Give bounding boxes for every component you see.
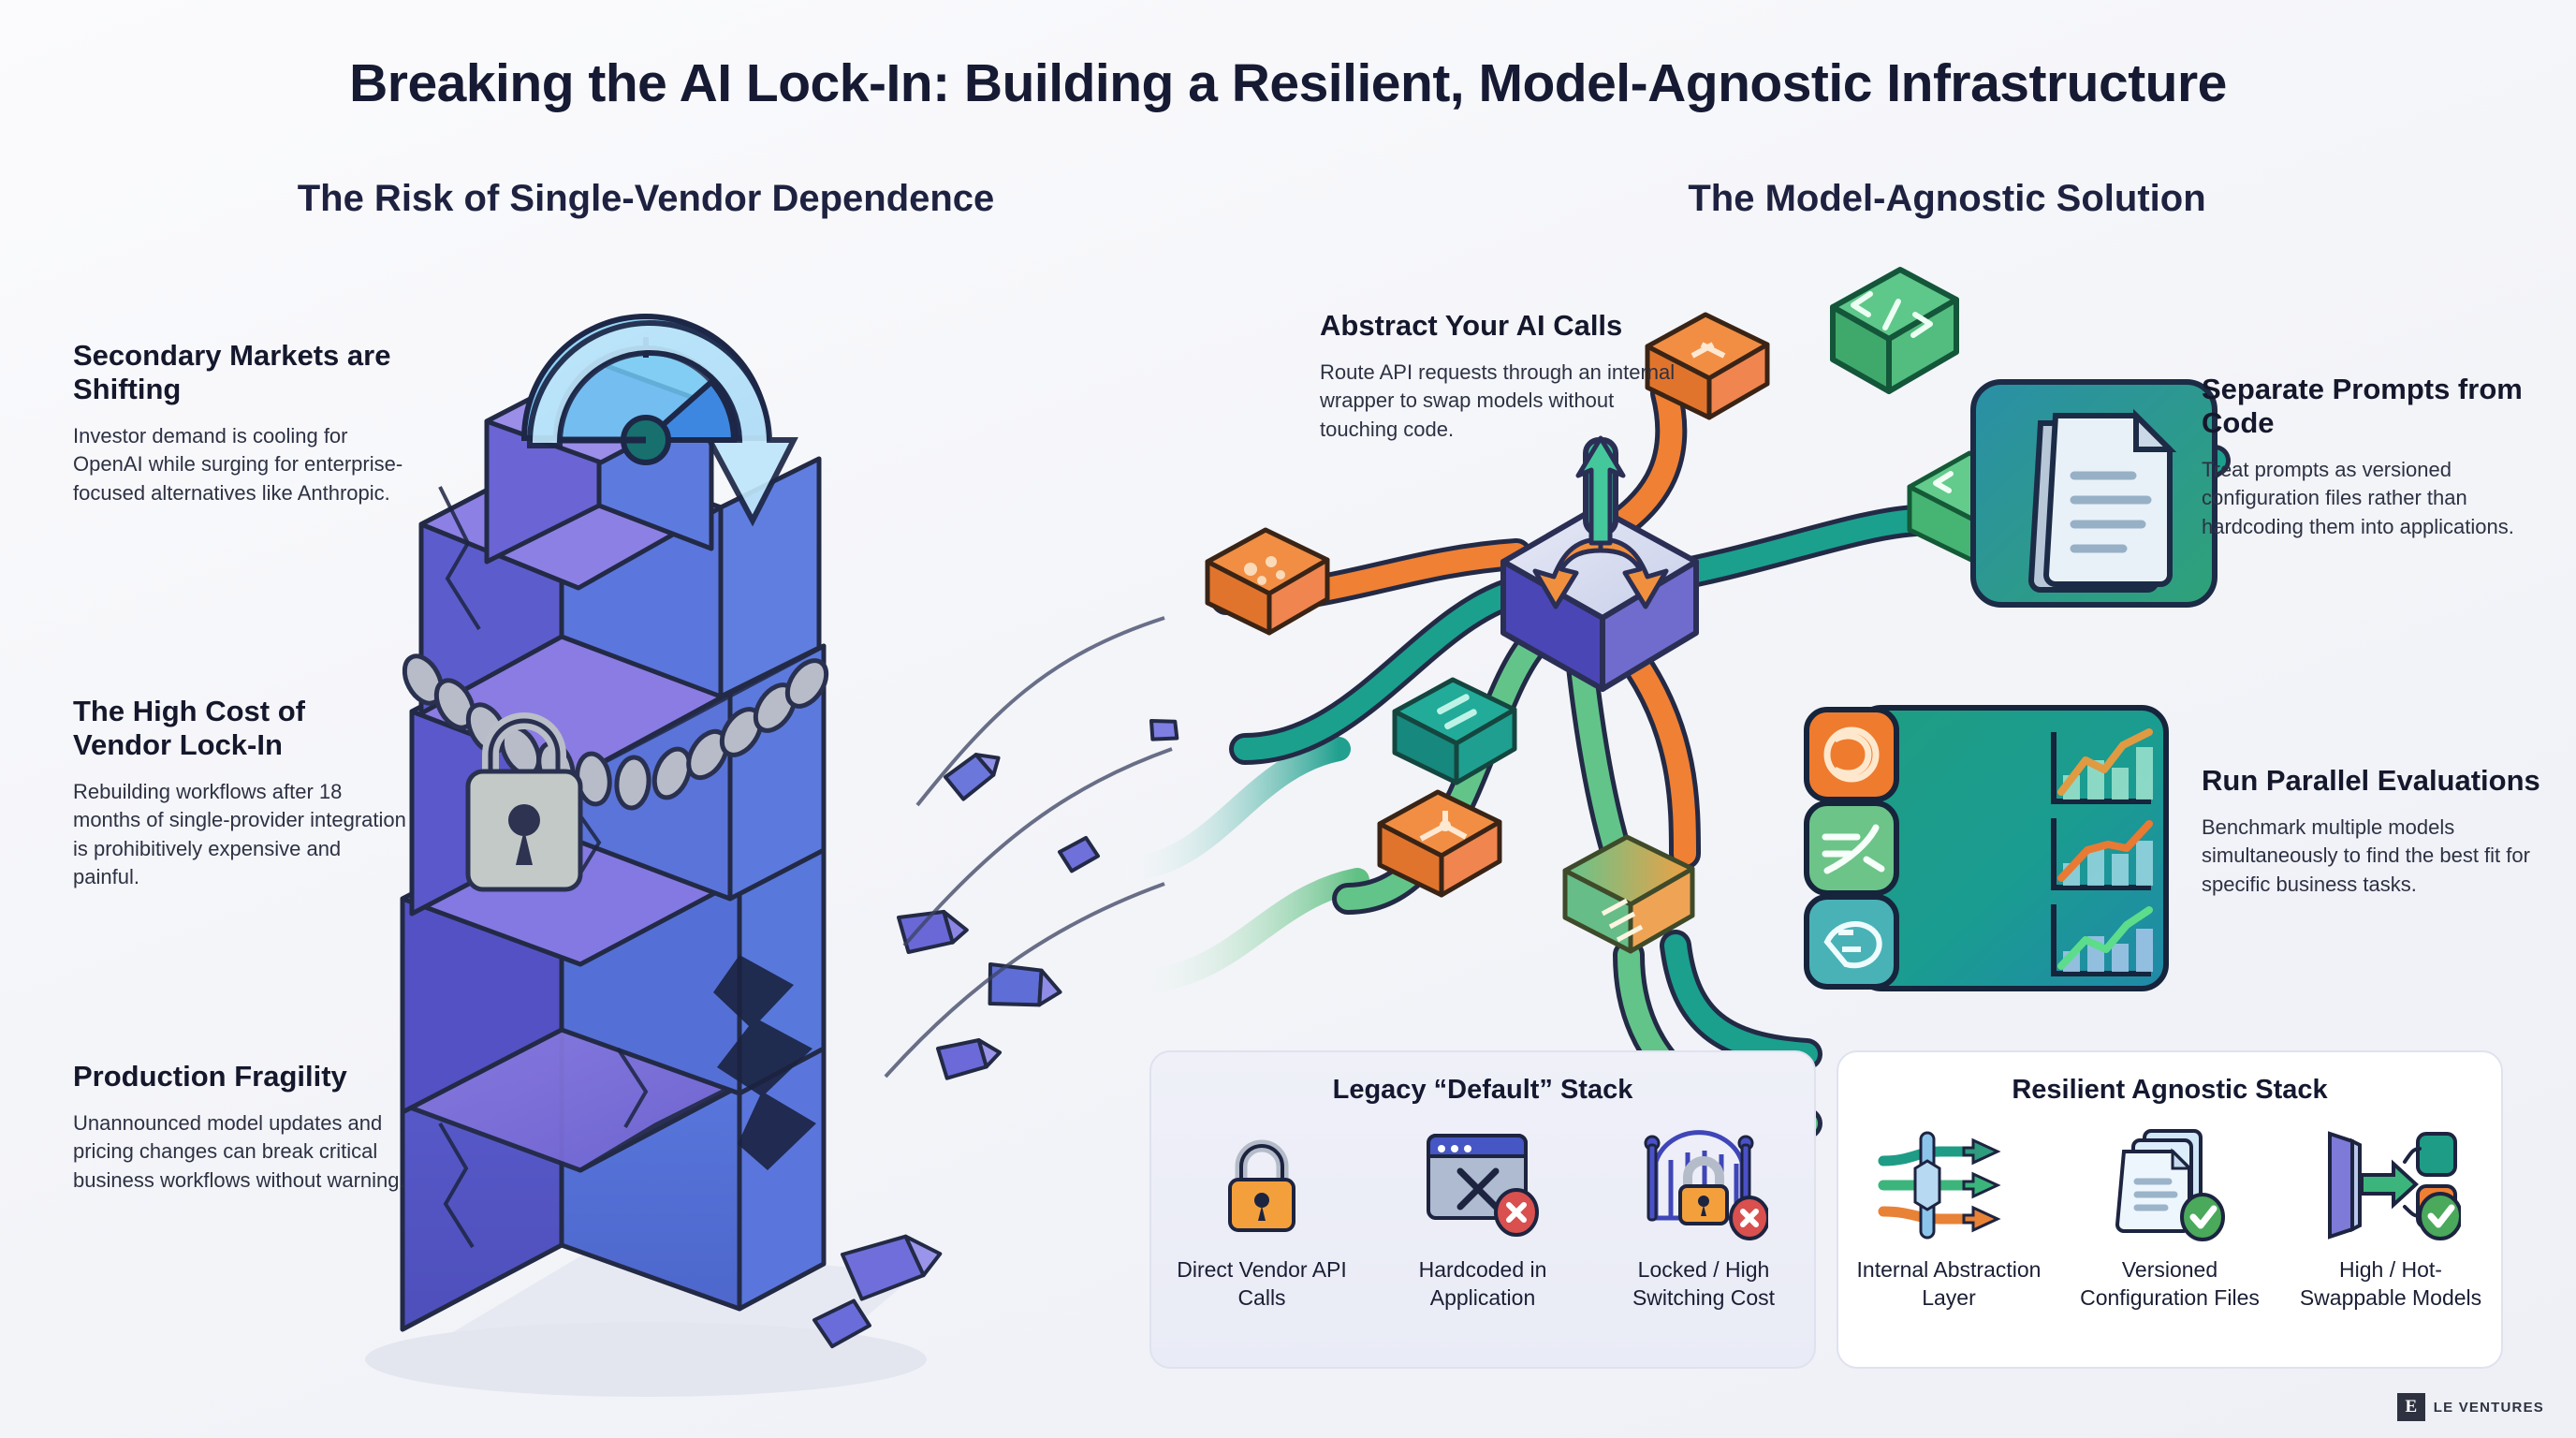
legacy-panel-items: Direct Vendor API Calls Hardcoded in <box>1151 1125 1814 1359</box>
solution-block-title: Run Parallel Evaluations <box>2202 764 2548 798</box>
risk-block-body: Investor demand is cooling for OpenAI wh… <box>73 422 410 507</box>
solution-block-parallel-evaluations: Run Parallel Evaluations Benchmark multi… <box>2202 764 2548 899</box>
solution-block-abstract-calls: Abstract Your AI Calls Route API request… <box>1320 309 1694 444</box>
legacy-item-direct-vendor: Direct Vendor API Calls <box>1164 1125 1360 1313</box>
resilient-stack-panel: Resilient Agnostic Stack <box>1837 1050 2503 1369</box>
solution-block-title: Abstract Your AI Calls <box>1320 309 1694 343</box>
risk-block-title: The High Cost of Vendor Lock-In <box>73 695 410 762</box>
legacy-stack-panel: Legacy “Default” Stack Direct Vendor API… <box>1149 1050 1816 1369</box>
padlock-icon <box>1217 1125 1307 1245</box>
brand-mark-icon: E <box>2397 1393 2425 1421</box>
legacy-panel-title: Legacy “Default” Stack <box>1151 1075 1814 1106</box>
legacy-item-label: Direct Vendor API Calls <box>1164 1256 1360 1313</box>
resilient-item-versioned-config: Versioned Configuration Files <box>2071 1125 2268 1313</box>
resilient-item-label: High / Hot-Swappable Models <box>2292 1256 2489 1313</box>
resilient-item-hot-swappable: High / Hot-Swappable Models <box>2292 1125 2489 1313</box>
risk-block-body: Rebuilding workflows after 18 months of … <box>73 778 410 891</box>
risk-block-title: Production Fragility <box>73 1060 410 1093</box>
locked-gate-icon <box>1639 1125 1768 1245</box>
browser-window-x-icon <box>1423 1125 1543 1245</box>
resilient-panel-title: Resilient Agnostic Stack <box>1838 1075 2501 1106</box>
legacy-item-label: Hardcoded in Application <box>1384 1256 1581 1313</box>
brand-name: LE VENTURES <box>2434 1400 2544 1416</box>
solution-block-body: Treat prompts as versioned configuration… <box>2202 456 2548 541</box>
solution-block-body: Route API requests through an internal w… <box>1320 359 1694 444</box>
left-column-header: The Risk of Single-Vendor Dependence <box>103 178 1189 220</box>
legacy-item-hardcoded: Hardcoded in Application <box>1384 1125 1581 1313</box>
routing-hub-icon <box>1874 1125 2024 1245</box>
documents-icon <box>2111 1125 2229 1245</box>
solution-block-title: Separate Prompts from Code <box>2202 373 2548 440</box>
resilient-panel-items: Internal Abstraction Layer Versioned Con… <box>1838 1125 2501 1359</box>
page-title: Breaking the AI Lock-In: Building a Resi… <box>0 52 2576 114</box>
risk-block-title: Secondary Markets are Shifting <box>73 339 410 406</box>
swap-models-icon <box>2320 1125 2461 1245</box>
legacy-item-locked-switching: Locked / High Switching Cost <box>1605 1125 1802 1313</box>
risk-block-body: Unannounced model updates and pricing ch… <box>73 1109 410 1195</box>
footer-logo: E LE VENTURES <box>2397 1393 2544 1421</box>
right-column-header: The Model-Agnostic Solution <box>1404 178 2490 220</box>
resilient-item-label: Versioned Configuration Files <box>2071 1256 2268 1313</box>
legacy-item-label: Locked / High Switching Cost <box>1605 1256 1802 1313</box>
risk-block-secondary-markets: Secondary Markets are Shifting Investor … <box>73 339 410 507</box>
resilient-item-abstraction-layer: Internal Abstraction Layer <box>1851 1125 2047 1313</box>
solution-block-body: Benchmark multiple models simultaneously… <box>2202 814 2548 899</box>
risk-block-production-fragility: Production Fragility Unannounced model u… <box>73 1060 410 1195</box>
resilient-item-label: Internal Abstraction Layer <box>1851 1256 2047 1313</box>
risk-block-high-cost: The High Cost of Vendor Lock-In Rebuildi… <box>73 695 410 891</box>
solution-block-separate-prompts: Separate Prompts from Code Treat prompts… <box>2202 373 2548 541</box>
